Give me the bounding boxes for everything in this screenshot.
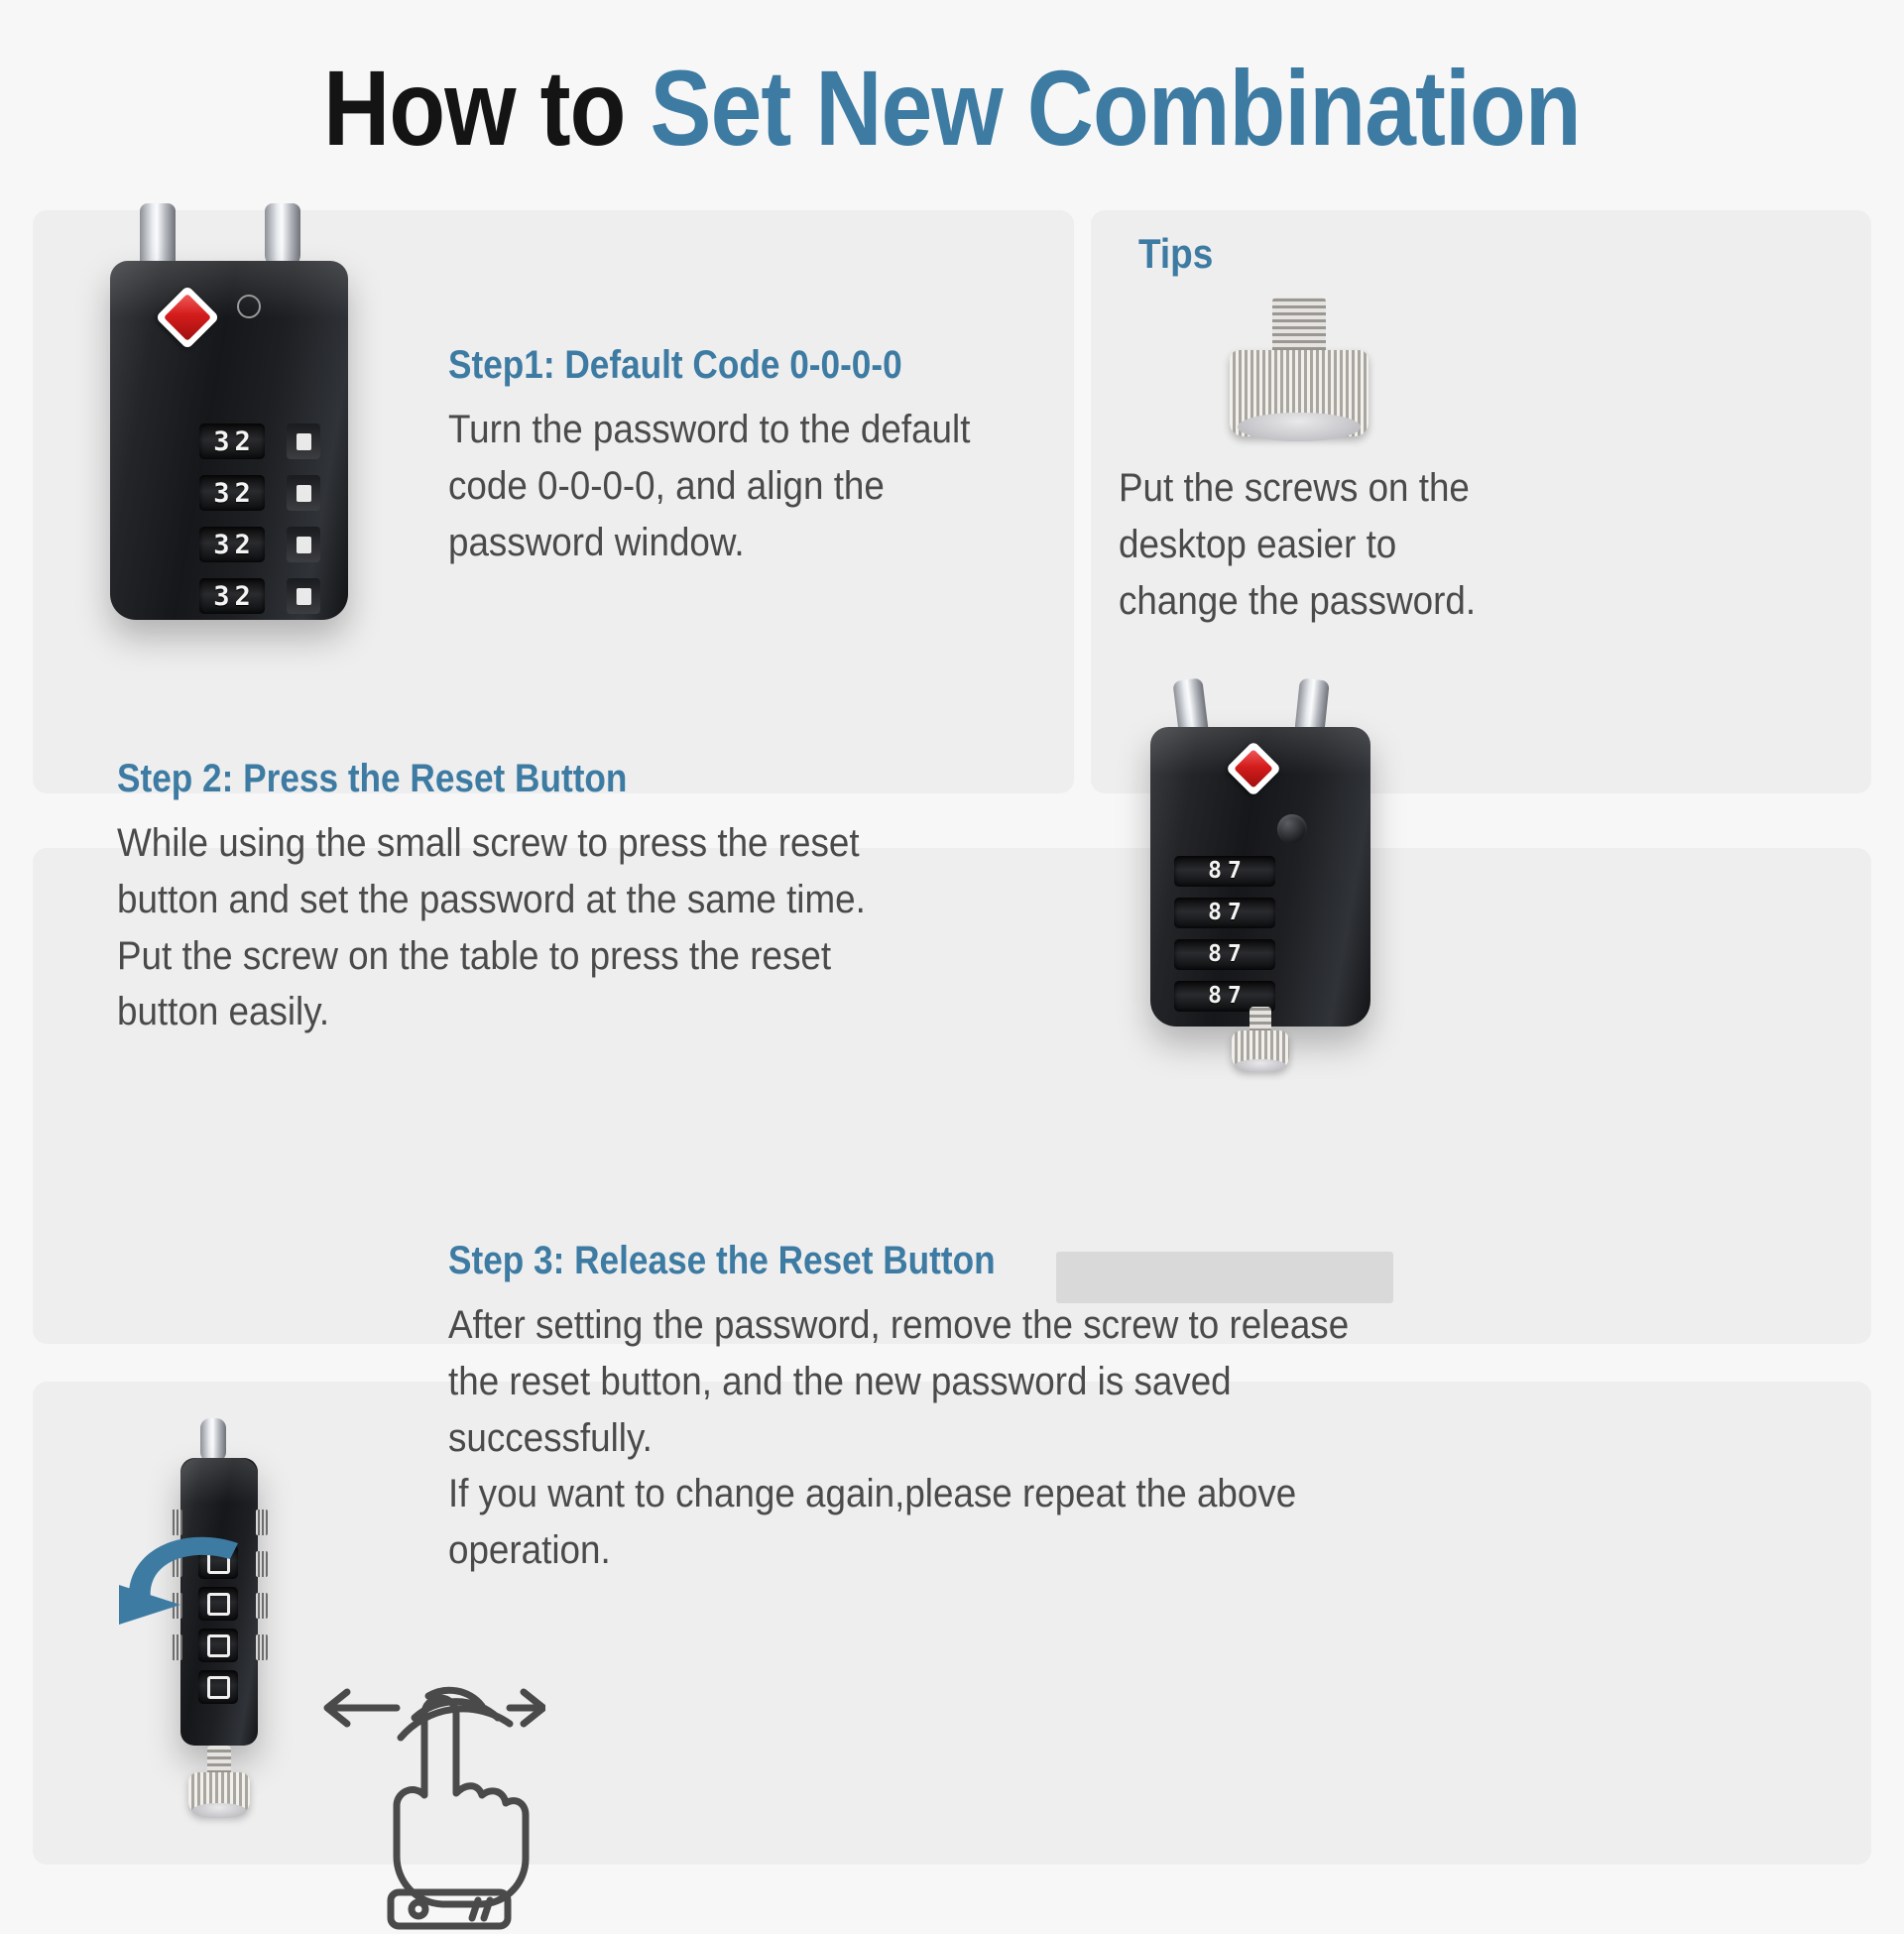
tsa-badge-icon: [1226, 741, 1282, 797]
dial-digit: 2: [235, 480, 251, 507]
dial-row-1[interactable]: 3 2: [199, 423, 265, 459]
dial-row-4[interactable]: [198, 1670, 238, 1704]
screw-knurled-head: [1230, 350, 1368, 436]
step1-body: Turn the password to the default code 0-…: [448, 402, 1105, 570]
step3-thumb-screw-icon: [188, 1746, 250, 1815]
step2-body-line: button easily.: [117, 984, 1029, 1040]
step2-lock-image: 8 7 8 7 8 7 8 7: [1130, 679, 1468, 1096]
step1-body-line: password window.: [448, 515, 1105, 571]
dial-digit: 7: [1228, 943, 1242, 966]
dial-row-4[interactable]: 3 2: [199, 578, 265, 614]
screw-knurled-head: [1232, 1030, 1289, 1070]
dial-digit: 7: [1228, 860, 1242, 883]
step2-heading: Step 2: Press the Reset Button: [117, 756, 990, 801]
step1-body-line: code 0-0-0-0, and align the: [448, 458, 1105, 515]
dial-digit: 2: [235, 428, 251, 455]
step3-body-line: After setting the password, remove the s…: [448, 1297, 1452, 1354]
page-title-blue: Set New Combination: [650, 48, 1580, 168]
tips-body-line: desktop easier to: [1119, 517, 1812, 573]
dial-digit: 8: [1208, 985, 1222, 1008]
dial-digit: 8: [1208, 860, 1222, 883]
step2-thumb-screw-icon: [1232, 1007, 1289, 1070]
dial-row-3[interactable]: 8 7: [1174, 939, 1275, 970]
step2-body: While using the small screw to press the…: [117, 815, 1029, 1040]
shackle-top: [200, 1418, 226, 1462]
dial-row-2[interactable]: 3 2: [199, 475, 265, 511]
step1-body-line: Turn the password to the default: [448, 402, 1105, 458]
side-window-3: [287, 527, 320, 562]
dial-digit: 3: [213, 583, 229, 610]
tips-heading: Tips: [1138, 230, 1213, 278]
step1-lock-image: 3 2 3 2 3 2 3 2: [94, 203, 412, 630]
tap-hand-gesture-icon: [297, 1627, 545, 1934]
tsa-badge-icon: [155, 285, 219, 349]
step2-body-line: Put the screw on the table to press the …: [117, 928, 1029, 985]
side-window-2: [287, 475, 320, 511]
page-title-dark: How to: [323, 48, 650, 168]
step3-heading: Step 3: Release the Reset Button: [448, 1238, 1408, 1283]
step3-text-block: Step 3: Release the Reset Button After s…: [448, 1238, 1539, 1579]
step2-body-line: While using the small screw to press the…: [117, 815, 1029, 872]
tips-thumb-screw-icon: [1230, 298, 1368, 436]
step1-text-block: Step1: Default Code 0-0-0-0 Turn the pas…: [448, 342, 1162, 570]
dial-digit: 8: [1208, 902, 1222, 924]
dial-digit: 2: [235, 532, 251, 558]
dial-digit: 3: [213, 532, 229, 558]
reset-button[interactable]: [1277, 814, 1307, 844]
dial-row-1[interactable]: 8 7: [1174, 856, 1275, 887]
step3-body-line: the reset button, and the new password i…: [448, 1354, 1452, 1410]
step3-body-line: successfully.: [448, 1410, 1452, 1467]
shackle-right: [265, 203, 300, 269]
infographic-page: How to Set New Combination 3 2 3 2 3 2 3: [0, 0, 1904, 1904]
side-window-1: [287, 423, 320, 459]
dial-digit: 8: [1208, 943, 1222, 966]
page-title: How to Set New Combination: [133, 52, 1770, 164]
tips-body-line: change the password.: [1119, 573, 1812, 630]
lock-body: 3 2 3 2 3 2 3 2: [110, 261, 348, 620]
dial-digit: 3: [213, 428, 229, 455]
step2-text-block: Step 2: Press the Reset Button While usi…: [117, 756, 1109, 1040]
dial-row-3[interactable]: 3 2: [199, 527, 265, 562]
step3-body: After setting the password, remove the s…: [448, 1297, 1452, 1579]
step1-heading: Step1: Default Code 0-0-0-0: [448, 342, 1077, 388]
registered-mark-icon: [237, 295, 261, 318]
lock-body: 8 7 8 7 8 7 8 7: [1150, 727, 1370, 1027]
dial-digit: 7: [1228, 902, 1242, 924]
dial-row-2[interactable]: 8 7: [1174, 898, 1275, 928]
dial-digit: 3: [213, 480, 229, 507]
dial-digit: 7: [1228, 985, 1242, 1008]
tips-body-line: Put the screws on the: [1119, 460, 1812, 517]
dial-digit: 2: [235, 583, 251, 610]
tips-text-block: Put the screws on the desktop easier to …: [1119, 460, 1812, 629]
step3-body-line: If you want to change again,please repea…: [448, 1466, 1452, 1522]
step3-body-line: operation.: [448, 1522, 1452, 1579]
step2-body-line: button and set the password at the same …: [117, 872, 1029, 928]
screw-knurled-head: [188, 1772, 250, 1815]
side-window-4: [287, 578, 320, 614]
rotate-arrow-icon: [109, 1508, 297, 1656]
